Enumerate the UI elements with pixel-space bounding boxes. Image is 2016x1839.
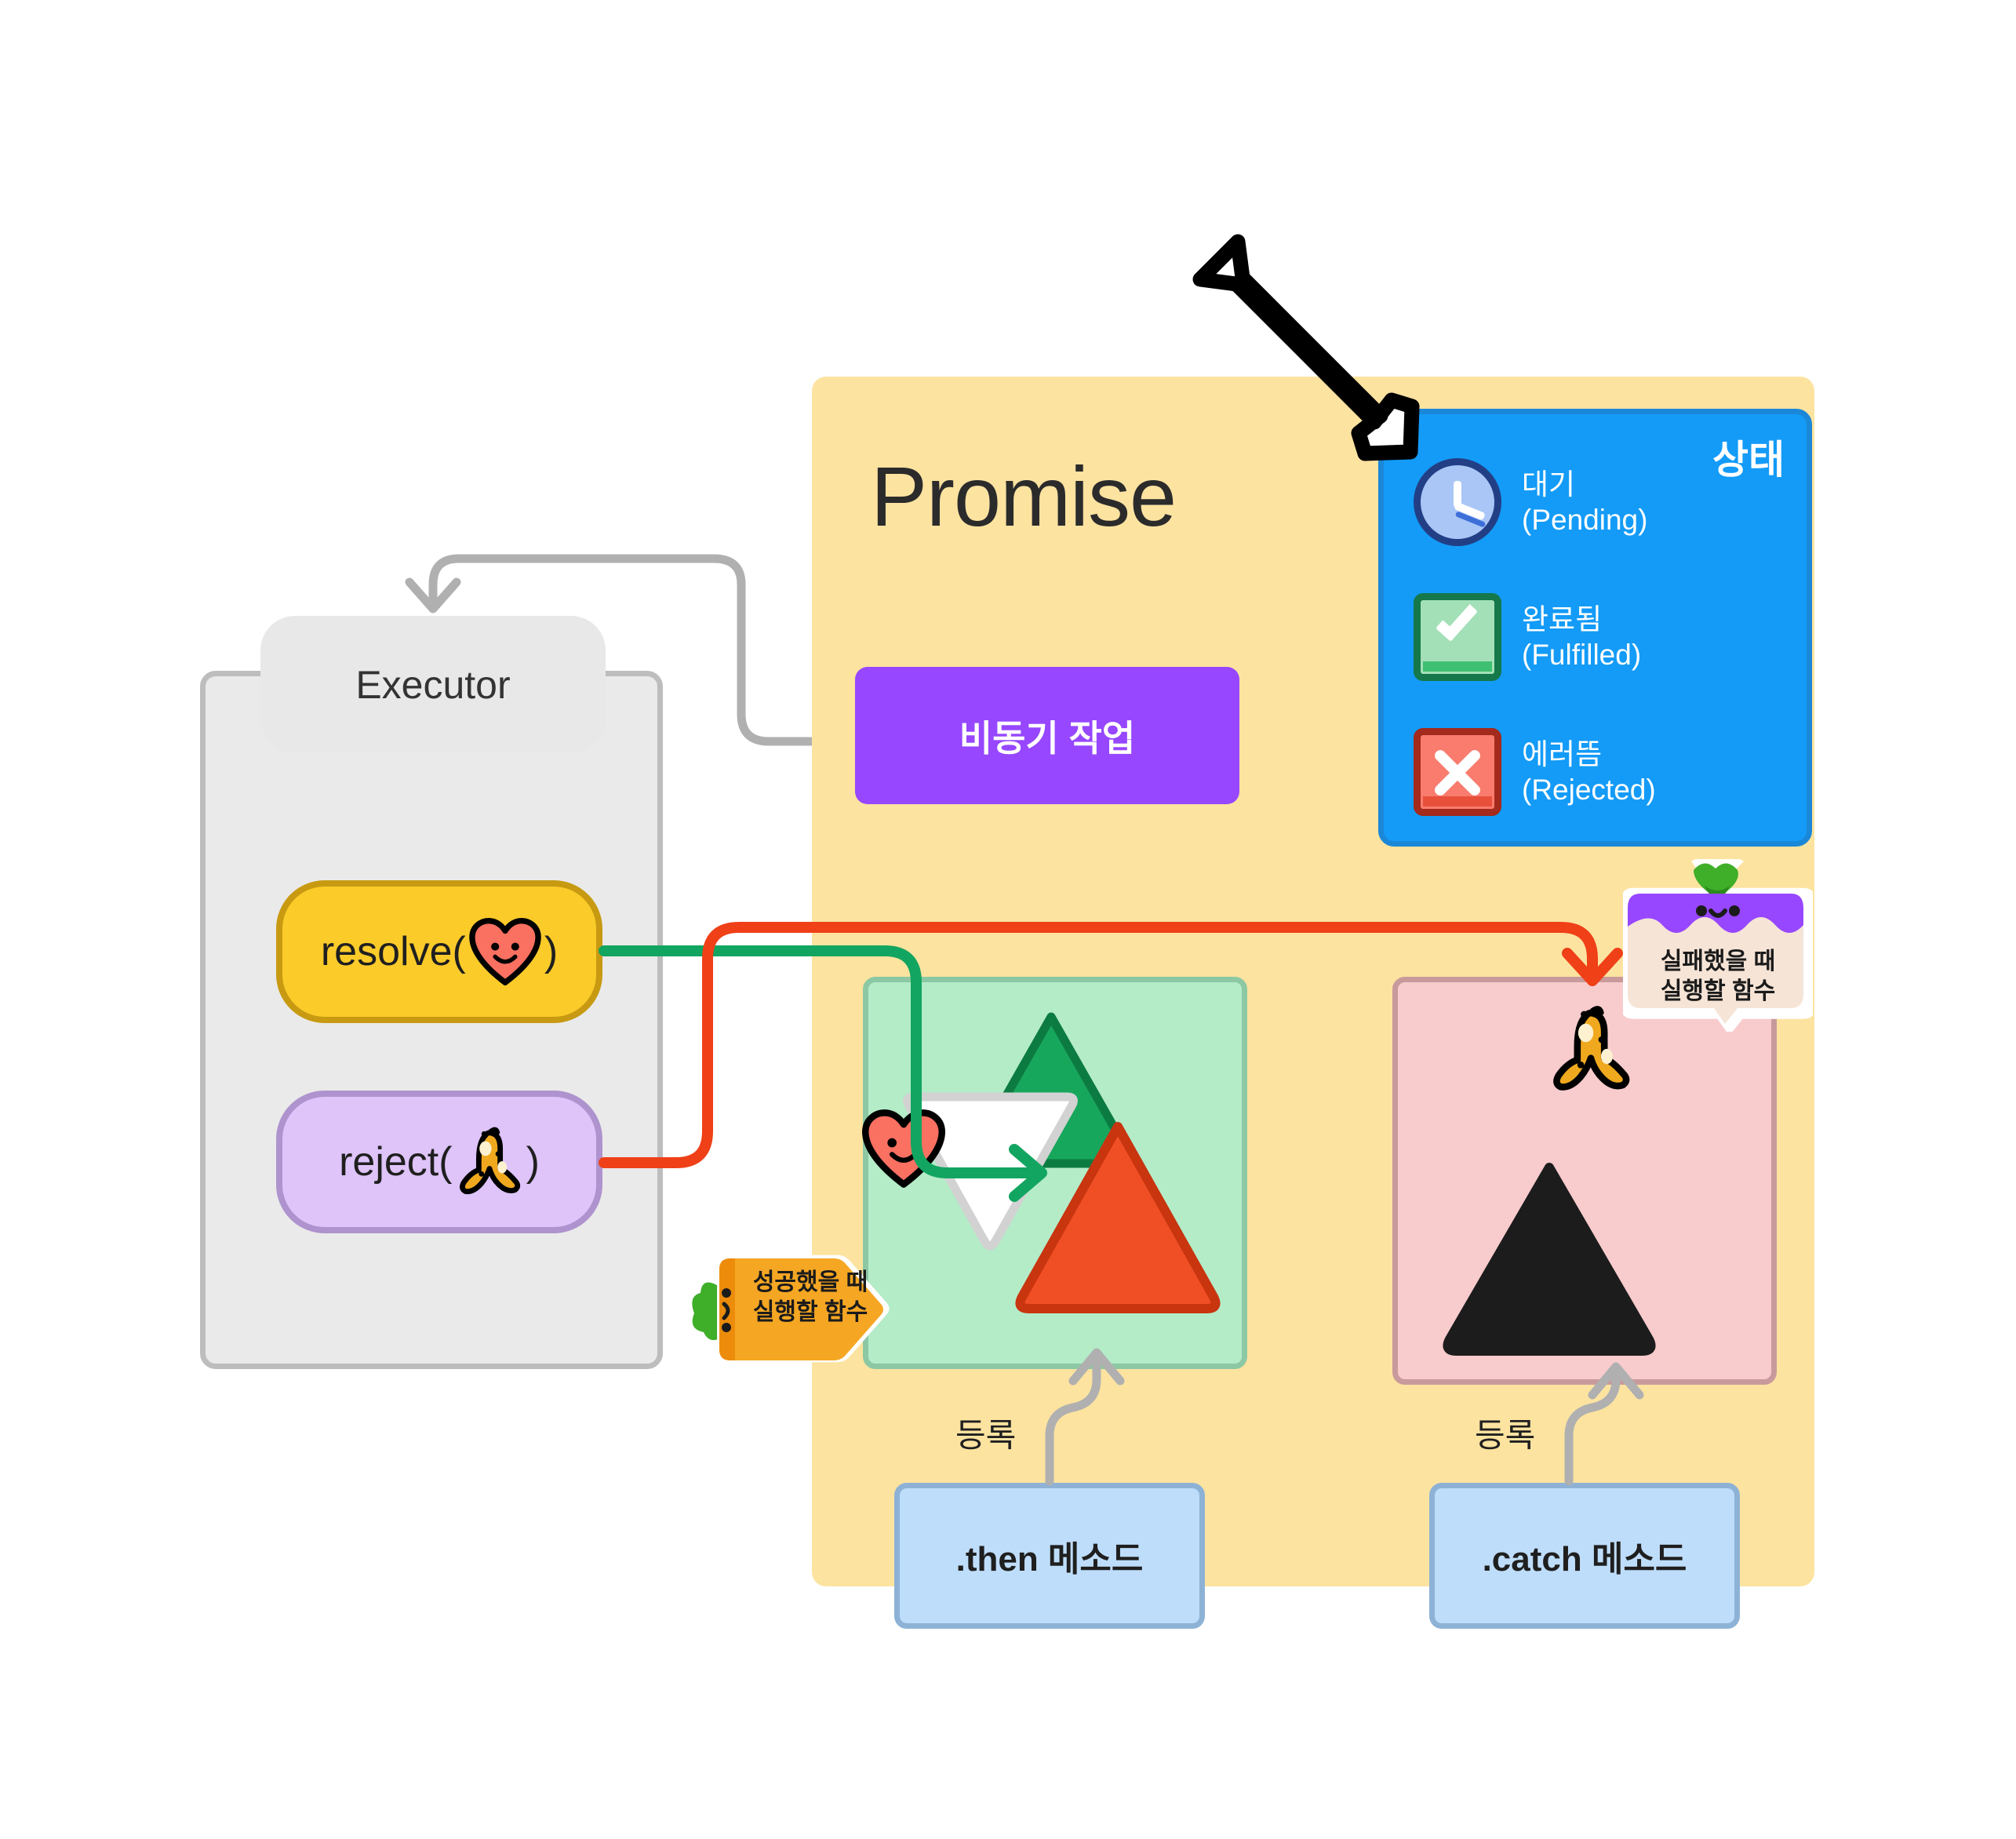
resolve-button[interactable]: resolve( ) — [276, 880, 602, 1023]
register-label-catch: 등록 — [1475, 1409, 1535, 1457]
executor-loop-arrowhead — [409, 582, 457, 609]
callout-success: 성공했을 때 실행할 함수 — [686, 1247, 898, 1371]
banana-peel-emoji — [456, 1126, 523, 1198]
state-row-pending: 대기 (Pending) — [1414, 458, 1647, 546]
async-task-label: 비동기 작업 — [959, 710, 1135, 762]
catch-method-label: .catch 메소드 — [1483, 1531, 1687, 1581]
states-card: 상태 대기 (Pending) 완료됨 (Fulfilled) — [1378, 409, 1812, 847]
then-method-label: .then 메소드 — [956, 1531, 1144, 1581]
then-method-box[interactable]: .then 메소드 — [894, 1483, 1205, 1629]
reject-label: reject( ) — [339, 1126, 540, 1198]
state-text-rejected: 에러뜸 (Rejected) — [1522, 737, 1656, 807]
then-result-area — [863, 977, 1247, 1369]
check-icon — [1414, 593, 1501, 681]
resolve-label: resolve( ) — [321, 918, 558, 985]
state-text-fulfilled: 완료됨 (Fulfilled) — [1522, 602, 1641, 672]
cross-icon — [1414, 728, 1501, 816]
states-title: 상태 — [1712, 428, 1785, 485]
callout-fail-text: 실패했을 때 실행할 함수 — [1623, 947, 1813, 1007]
heart-emoji — [469, 918, 541, 985]
state-text-pending: 대기 (Pending) — [1522, 467, 1647, 537]
diagram-canvas: Promise Executor resolve( ) reject( — [0, 0, 2016, 1839]
reject-button[interactable]: reject( ) — [276, 1091, 602, 1233]
banana-peel-emoji — [1548, 1004, 1633, 1095]
executor-header: Executor — [260, 616, 606, 753]
clock-icon — [1414, 458, 1501, 546]
catch-result-area — [1392, 977, 1777, 1385]
register-label-then: 등록 — [955, 1409, 1016, 1457]
catch-method-box[interactable]: .catch 메소드 — [1429, 1483, 1740, 1629]
page-title: Promise — [871, 447, 1176, 545]
executor-title: Executor — [355, 662, 510, 708]
black-triangle — [1436, 1156, 1663, 1362]
state-row-fulfilled: 완료됨 (Fulfilled) — [1414, 593, 1641, 681]
red-triangle — [1008, 1116, 1228, 1320]
callout-success-text: 성공했을 때 실행할 함수 — [740, 1268, 881, 1328]
heart-emoji — [862, 1109, 945, 1188]
state-row-rejected: 에러뜸 (Rejected) — [1414, 728, 1656, 816]
callout-fail: 실패했을 때 실행할 함수 — [1623, 859, 1813, 1032]
async-task-box: 비동기 작업 — [855, 667, 1239, 804]
